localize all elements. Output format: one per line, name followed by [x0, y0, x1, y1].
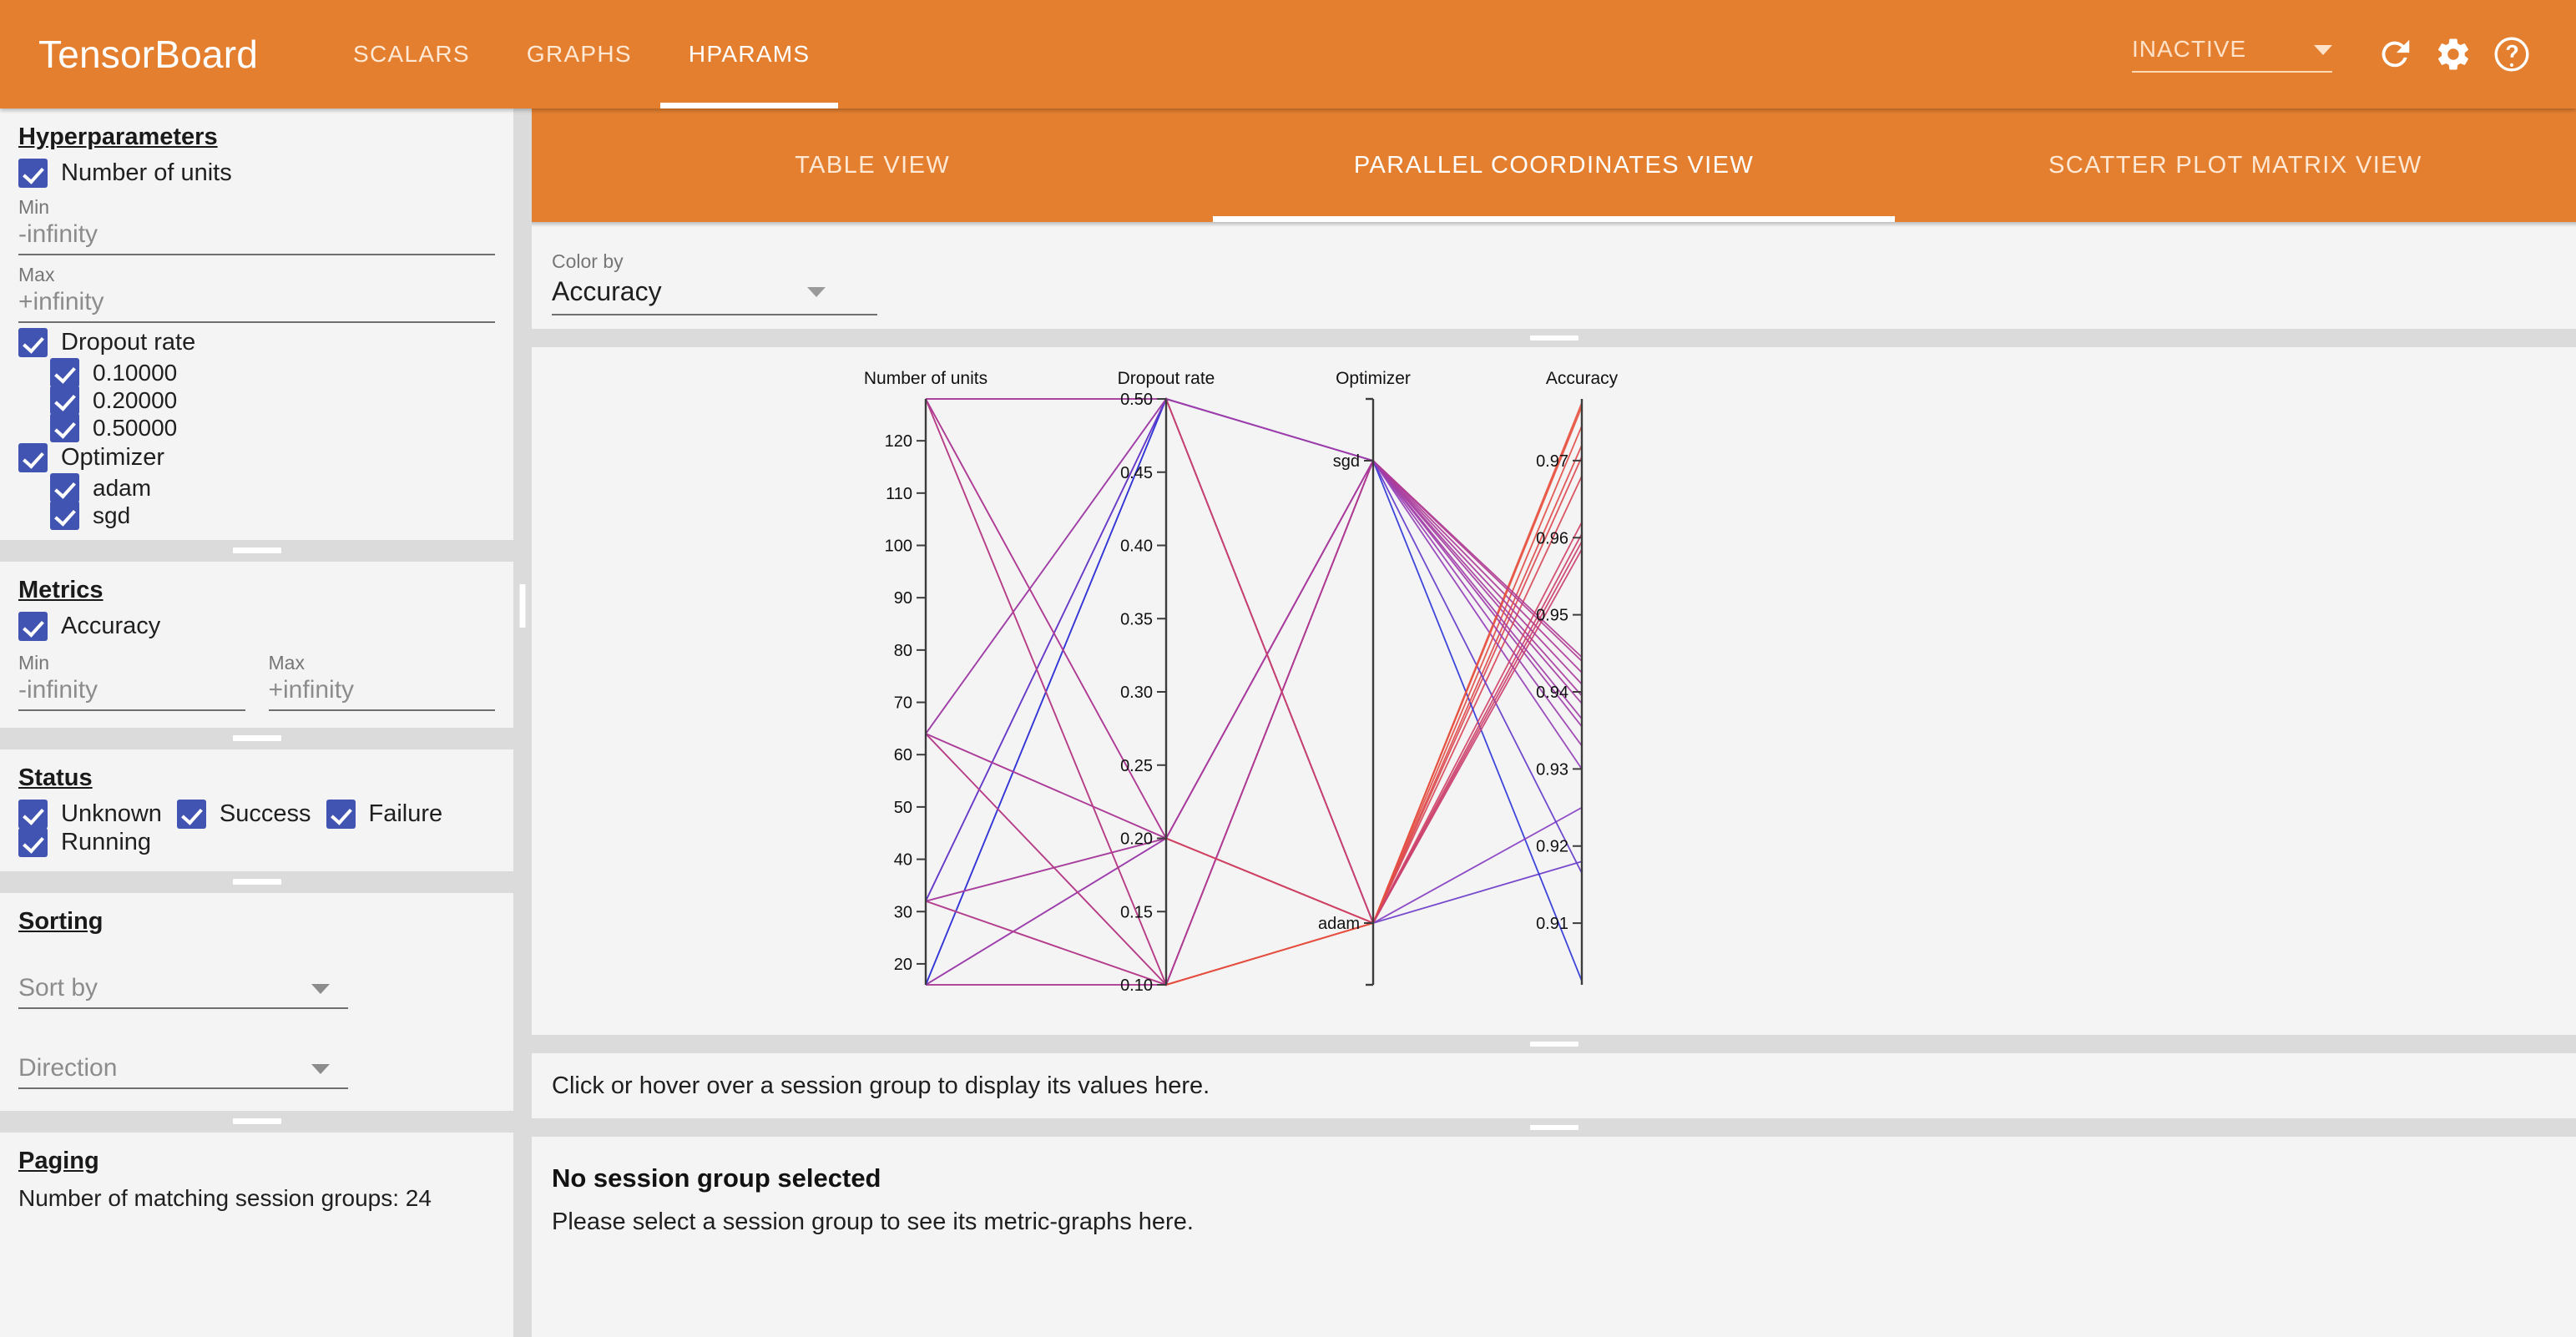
pc-axis[interactable]: Number of units2030405060708090100110120	[864, 369, 987, 985]
color-by-label: Color by	[552, 250, 877, 273]
paging-heading: Paging	[18, 1148, 99, 1175]
status-success-label: Success	[220, 800, 311, 828]
app-bar-actions: INACTIVE	[2132, 25, 2541, 83]
axis-tick-label: 40	[894, 851, 912, 870]
sort-by-select[interactable]: Sort by	[18, 974, 348, 1009]
dropout-option-row[interactable]: 0.20000	[50, 386, 495, 415]
dropout-option-row[interactable]: 0.50000	[50, 413, 495, 442]
status-success-row[interactable]: Success	[177, 800, 311, 829]
chevron-down-icon	[807, 287, 826, 297]
axis-title: Accuracy	[1546, 369, 1619, 388]
axis-tick-label: 80	[894, 642, 912, 660]
tab-parallel-coordinates-view[interactable]: PARALLEL COORDINATES VIEW	[1213, 108, 1894, 222]
session-panel-resize-handle[interactable]	[532, 1118, 2576, 1137]
settings-button[interactable]	[2424, 25, 2483, 83]
axis-tick-label: adam	[1318, 915, 1360, 933]
axis-tick-label: 0.45	[1120, 464, 1153, 482]
matching-session-groups-count: Number of matching session groups: 24	[18, 1185, 495, 1212]
sidebar-section-sorting: Sorting Sort by Direction	[0, 893, 513, 1111]
metric-accuracy-label: Accuracy	[61, 613, 160, 640]
checkbox-optimizer-sgd[interactable]	[50, 501, 79, 530]
optimizer-option-label: adam	[93, 475, 151, 502]
checkbox-status-running[interactable]	[18, 828, 48, 857]
dropout-option-label: 0.10000	[93, 360, 177, 386]
dropout-option-label: 0.50000	[93, 415, 177, 441]
color-by-panel: Color by Accuracy	[532, 227, 2576, 329]
brand-title: TensorBoard	[38, 32, 258, 77]
direction-placeholder: Direction	[18, 1054, 117, 1082]
status-heading: Status	[18, 764, 93, 792]
axis-tick-label: 110	[886, 485, 912, 503]
sidebar-divider-metrics-status[interactable]	[0, 728, 513, 749]
resize-grip[interactable]	[520, 584, 526, 628]
nav-tab-hparams[interactable]: HPARAMS	[660, 0, 839, 108]
chevron-down-icon	[311, 1064, 330, 1074]
pc-line[interactable]	[926, 399, 1582, 985]
units-min-field[interactable]: Min -infinity	[18, 196, 495, 255]
checkbox-status-success[interactable]	[177, 800, 206, 829]
accuracy-min-label: Min	[18, 652, 245, 674]
axis-tick-label: 0.91	[1536, 915, 1568, 933]
axis-tick-label: 50	[894, 799, 912, 817]
accuracy-max-value[interactable]: +infinity	[269, 676, 496, 711]
sorting-heading: Sorting	[18, 908, 104, 936]
tab-table-view[interactable]: TABLE VIEW	[532, 108, 1213, 222]
axis-tick-label: 0.97	[1536, 452, 1568, 471]
resize-grip[interactable]	[233, 879, 281, 885]
resize-grip[interactable]	[1530, 1125, 1578, 1130]
parallel-coordinates-chart[interactable]: Number of units2030405060708090100110120…	[532, 347, 2576, 1035]
axis-tick-label: 0.40	[1120, 537, 1153, 556]
axis-tick-label: 0.30	[1120, 684, 1153, 702]
tab-scatter-plot-matrix-view[interactable]: SCATTER PLOT MATRIX VIEW	[1895, 108, 2576, 222]
sidebar-section-metrics: Metrics Accuracy Min -infinity Max +infi…	[0, 562, 513, 728]
checkbox-optimizer-adam[interactable]	[50, 473, 79, 502]
checkbox-number-of-units[interactable]	[18, 159, 48, 188]
resize-grip[interactable]	[233, 1118, 281, 1124]
accuracy-range-fields: Min -infinity Max +infinity	[18, 643, 495, 716]
session-group-panel: No session group selected Please select …	[532, 1137, 2576, 1287]
checkbox-metric-accuracy[interactable]	[18, 612, 48, 641]
axis-tick-label: 0.95	[1536, 607, 1568, 625]
hover-hint-text: Click or hover over a session group to d…	[552, 1072, 1210, 1100]
main-content: TABLE VIEW PARALLEL COORDINATES VIEW SCA…	[532, 108, 2576, 1337]
pc-line[interactable]	[926, 399, 1582, 985]
pc-line[interactable]	[926, 399, 1582, 985]
hparam-number-of-units-row[interactable]: Number of units	[18, 159, 495, 188]
status-running-row[interactable]: Running	[18, 828, 151, 857]
metric-accuracy-row[interactable]: Accuracy	[18, 612, 495, 641]
color-by-select[interactable]: Color by Accuracy	[552, 250, 877, 315]
axis-tick-label: 120	[885, 432, 912, 451]
resize-grip[interactable]	[1530, 1042, 1578, 1047]
units-min-value[interactable]: -infinity	[18, 220, 495, 255]
chevron-down-icon	[311, 984, 330, 994]
pc-line[interactable]	[926, 461, 1582, 901]
pc-line[interactable]	[926, 445, 1582, 923]
units-max-value[interactable]: +infinity	[18, 288, 495, 323]
checkbox-optimizer[interactable]	[18, 443, 48, 472]
accuracy-min-field[interactable]: Min -infinity	[18, 652, 245, 711]
hparam-dropout-rate-label: Dropout rate	[61, 329, 195, 356]
chevron-down-icon	[2314, 45, 2332, 55]
metrics-heading: Metrics	[18, 577, 104, 604]
axis-tick-label: 0.92	[1536, 838, 1568, 856]
optimizer-option-row[interactable]: adam	[50, 473, 495, 502]
help-button[interactable]	[2483, 25, 2541, 83]
pc-line[interactable]	[926, 534, 1582, 923]
checkbox-dropout-0.10000[interactable]	[50, 358, 79, 387]
dropout-option-row[interactable]: 0.10000	[50, 358, 495, 387]
axis-tick-label: 30	[894, 903, 912, 921]
pc-axis[interactable]: Optimizeradamsgd	[1318, 369, 1411, 985]
status-unknown-label: Unknown	[61, 800, 162, 828]
axis-tick-label: 0.15	[1120, 903, 1153, 921]
axis-title: Optimizer	[1336, 369, 1411, 388]
parallel-coordinates-svg[interactable]: Number of units2030405060708090100110120…	[532, 347, 2576, 1035]
axis-tick-label: 0.25	[1120, 757, 1153, 775]
hover-values-panel: Click or hover over a session group to d…	[532, 1053, 2576, 1118]
optimizer-option-label: sgd	[93, 502, 130, 529]
status-unknown-row[interactable]: Unknown	[18, 800, 162, 829]
sidebar-resize-handle[interactable]	[513, 108, 532, 1337]
status-running-label: Running	[61, 829, 151, 856]
units-min-label: Min	[18, 196, 495, 219]
axis-tick-label: 60	[894, 746, 912, 764]
status-failure-label: Failure	[369, 800, 443, 828]
session-panel-subtitle: Please select a session group to see its…	[552, 1208, 2576, 1236]
checkbox-status-unknown[interactable]	[18, 800, 48, 829]
axis-tick-label: sgd	[1333, 452, 1360, 471]
pc-line[interactable]	[926, 426, 1582, 985]
primary-nav-tabs: SCALARS GRAPHS HPARAMS	[325, 0, 838, 108]
hparam-dropout-rate-row[interactable]: Dropout rate	[18, 328, 495, 357]
run-status-select[interactable]: INACTIVE	[2132, 36, 2332, 73]
axis-tick-label: 20	[894, 956, 912, 974]
axis-tick-label: 0.93	[1536, 760, 1568, 779]
nav-tab-scalars[interactable]: SCALARS	[325, 0, 498, 108]
sidebar-divider-hparams-metrics[interactable]	[0, 540, 513, 562]
axis-tick-label: 0.94	[1536, 684, 1568, 702]
chart-top-resize-handle[interactable]	[532, 329, 2576, 347]
axis-tick-label: 0.35	[1120, 610, 1153, 628]
hparam-optimizer-label: Optimizer	[61, 444, 164, 472]
refresh-button[interactable]	[2366, 25, 2424, 83]
accuracy-max-label: Max	[269, 652, 496, 674]
axis-tick-label: 0.20	[1120, 830, 1153, 849]
axis-title: Number of units	[864, 369, 987, 388]
sidebar: Hyperparameters Number of units Min -inf…	[0, 108, 513, 1337]
sort-by-placeholder: Sort by	[18, 974, 98, 1001]
resize-grip[interactable]	[1530, 336, 1578, 341]
accuracy-min-value[interactable]: -infinity	[18, 676, 245, 711]
hyperparameters-heading: Hyperparameters	[18, 124, 218, 151]
pc-line[interactable]	[926, 476, 1582, 985]
axis-tick-label: 0.50	[1120, 391, 1153, 409]
axis-title: Dropout rate	[1118, 369, 1215, 388]
checkbox-dropout-rate[interactable]	[18, 328, 48, 357]
session-panel-title: No session group selected	[552, 1163, 2576, 1193]
axis-tick-label: 100	[885, 537, 912, 556]
accuracy-max-field[interactable]: Max +infinity	[269, 652, 496, 711]
app-bar: TensorBoard SCALARS GRAPHS HPARAMS INACT…	[0, 0, 2576, 108]
hparam-number-of-units-label: Number of units	[61, 159, 232, 187]
axis-tick-label: 0.10	[1120, 976, 1153, 995]
direction-select[interactable]: Direction	[18, 1054, 348, 1089]
pc-line[interactable]	[926, 399, 1582, 839]
status-checkbox-grid: Unknown Success Failure Running	[18, 797, 495, 860]
sidebar-section-hyperparameters: Hyperparameters Number of units Min -inf…	[0, 108, 513, 540]
sidebar-divider-status-sorting[interactable]	[0, 871, 513, 893]
run-status-value: INACTIVE	[2132, 36, 2246, 63]
checkbox-dropout-0.50000[interactable]	[50, 413, 79, 442]
status-failure-row[interactable]: Failure	[326, 800, 443, 829]
resize-grip[interactable]	[233, 547, 281, 553]
checkbox-status-failure[interactable]	[326, 800, 356, 829]
sidebar-section-paging: Paging Number of matching session groups…	[0, 1133, 513, 1223]
nav-tab-graphs[interactable]: GRAPHS	[498, 0, 660, 108]
checkbox-dropout-0.20000[interactable]	[50, 386, 79, 415]
refresh-icon	[2376, 35, 2414, 73]
color-by-value[interactable]: Accuracy	[552, 276, 877, 315]
units-max-label: Max	[18, 264, 495, 286]
pc-line[interactable]	[926, 399, 1582, 985]
sidebar-divider-sorting-paging[interactable]	[0, 1111, 513, 1133]
hover-panel-resize-handle[interactable]	[532, 1035, 2576, 1053]
axis-tick-label: 90	[894, 589, 912, 608]
axis-tick-label: 0.96	[1536, 529, 1568, 547]
help-icon	[2492, 34, 2532, 74]
optimizer-option-row[interactable]: sgd	[50, 501, 495, 530]
resize-grip[interactable]	[233, 735, 281, 741]
gear-icon	[2434, 35, 2472, 73]
units-max-field[interactable]: Max +infinity	[18, 264, 495, 323]
view-tabs: TABLE VIEW PARALLEL COORDINATES VIEW SCA…	[532, 108, 2576, 222]
sidebar-section-status: Status Unknown Success Failure Running	[0, 749, 513, 871]
dropout-option-label: 0.20000	[93, 387, 177, 414]
hparam-optimizer-row[interactable]: Optimizer	[18, 443, 495, 472]
axis-tick-label: 70	[894, 694, 912, 713]
